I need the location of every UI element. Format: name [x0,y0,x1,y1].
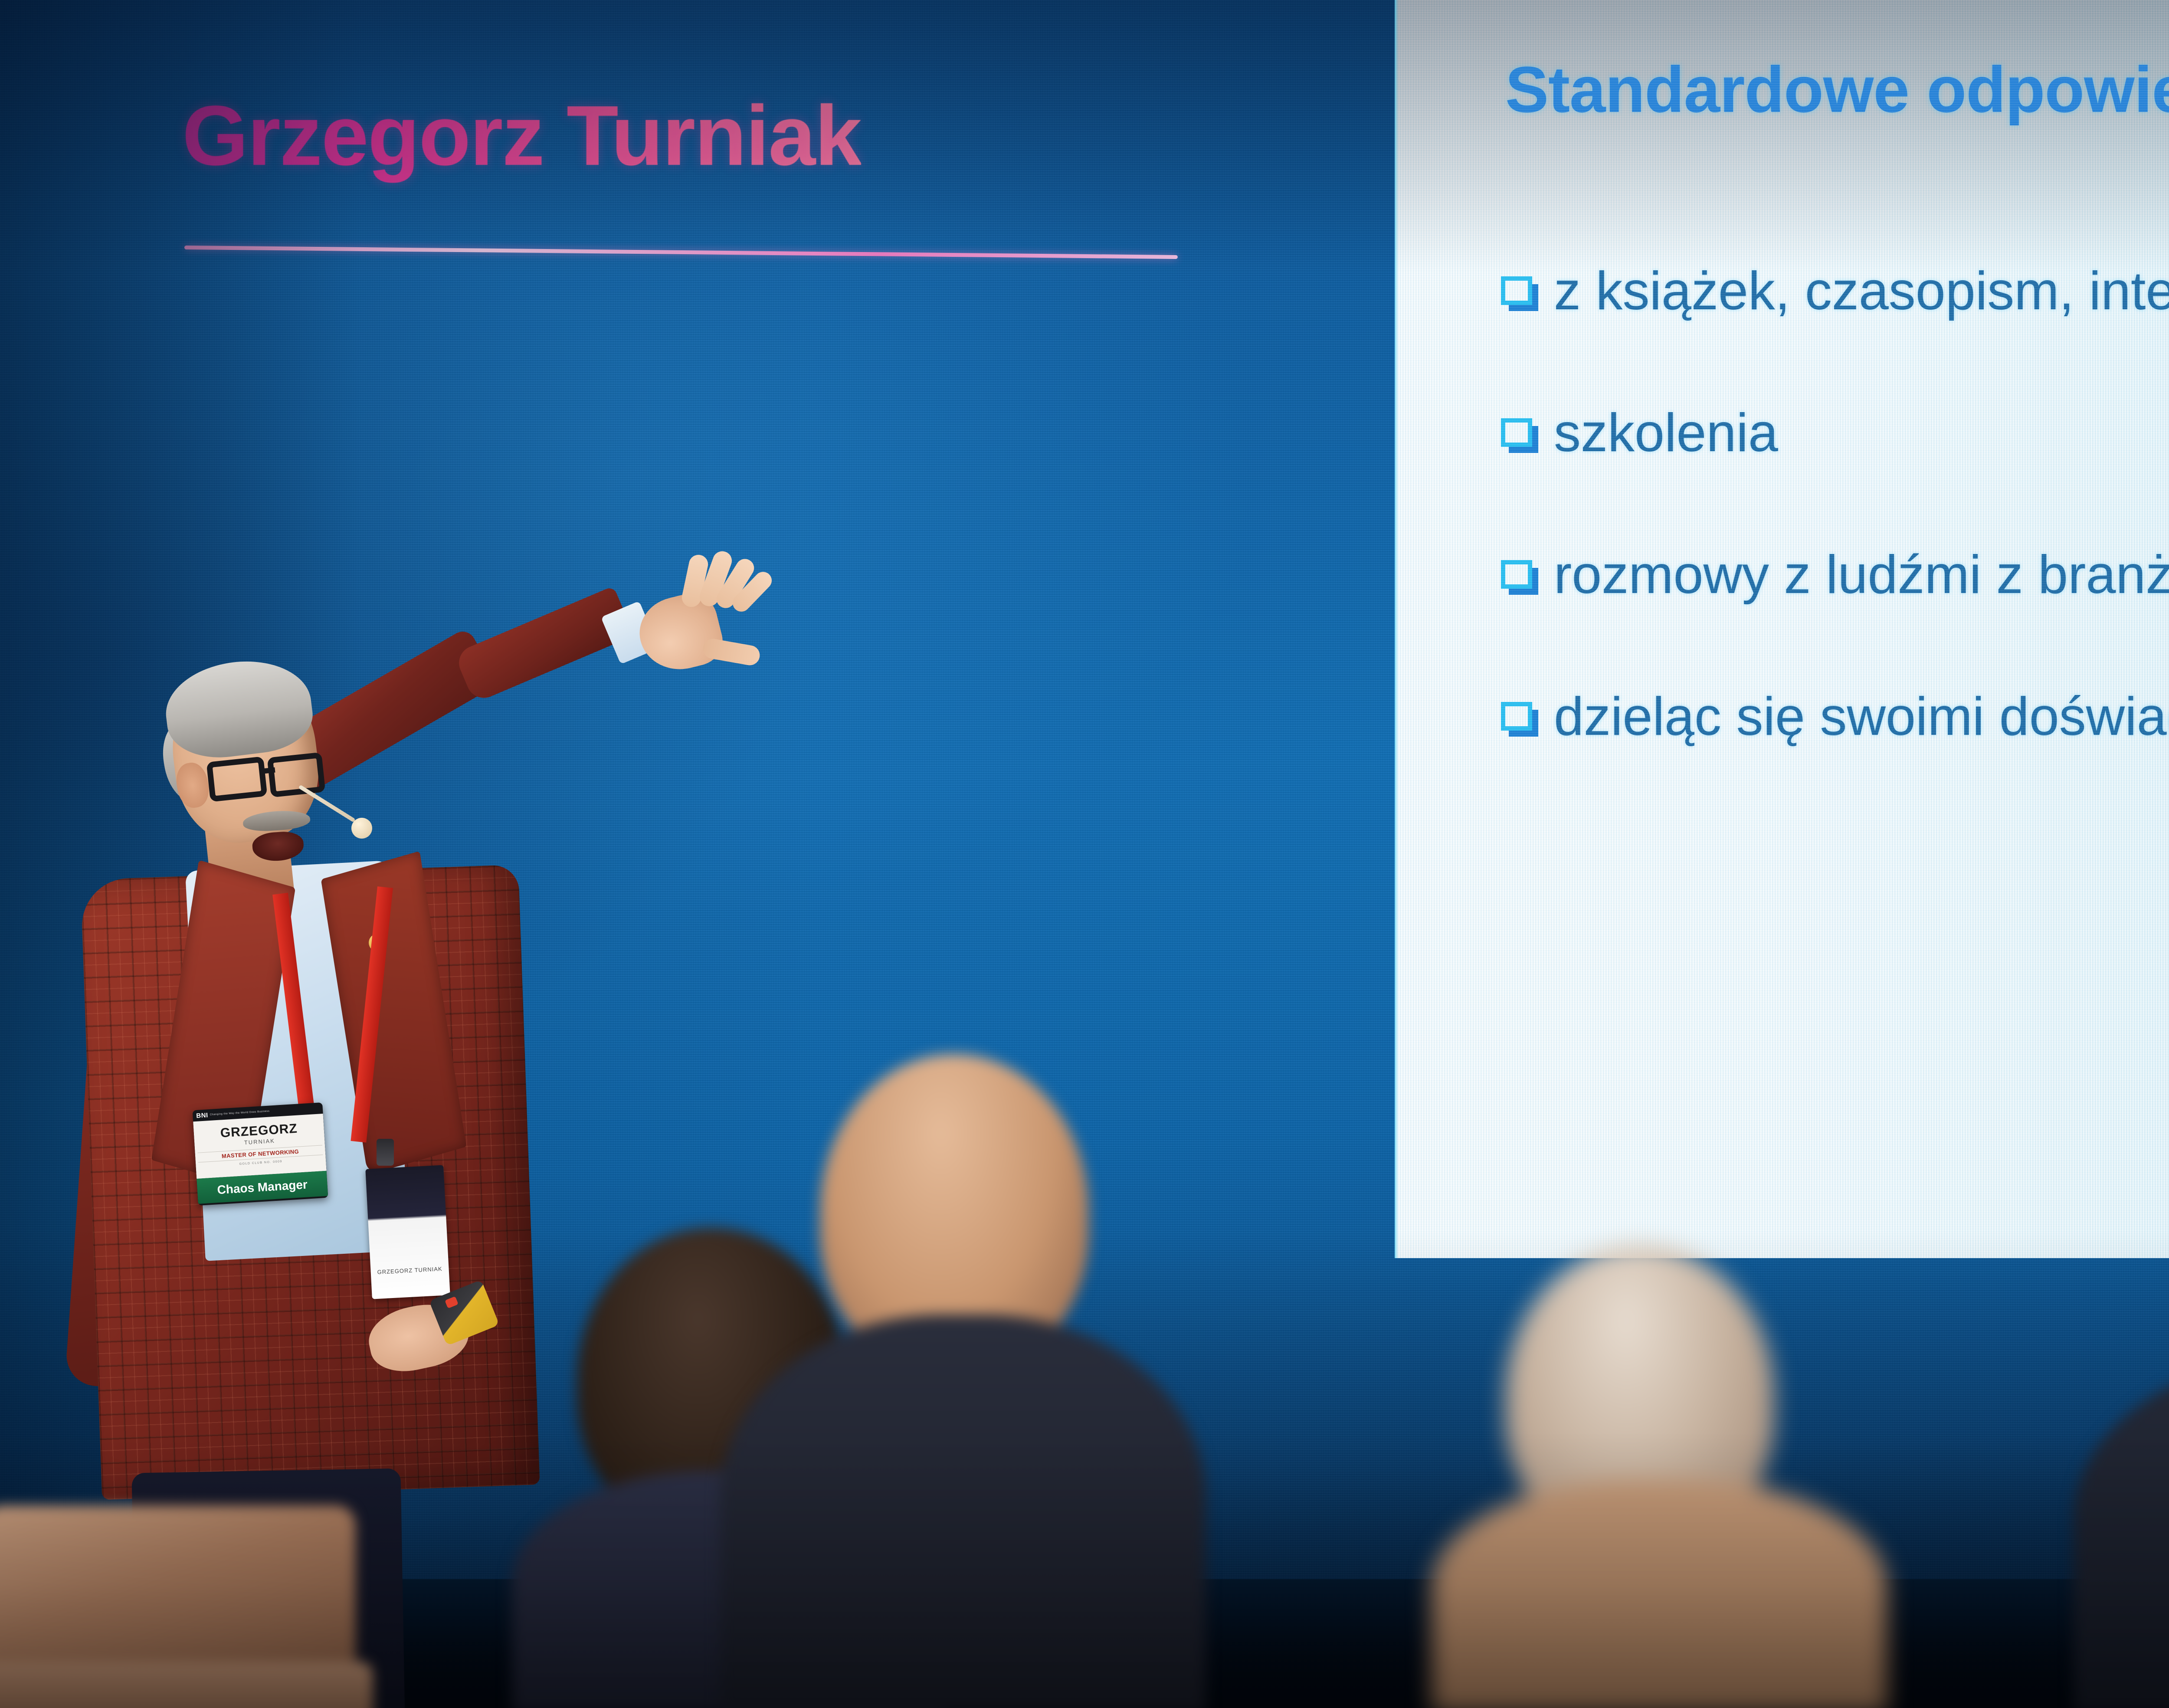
secondary-badge: GRZEGORZ TURNIAK [365,1165,450,1299]
secondary-badge-name: GRZEGORZ TURNIAK [370,1265,449,1275]
list-item: z książek, czasopism, internetu [1501,260,2169,402]
speaker-name-underline [184,246,1178,259]
name-badge: BNI Changing the Way the World Does Busi… [193,1102,328,1206]
square-bullet-icon [1501,560,1532,589]
audience-member-2 [720,1054,1206,1708]
eyeglasses-icon [206,756,268,802]
list-item: dzieląc się swoimi doświadczen [1501,686,2169,828]
speaker-name-heading: Grzegorz Turniak [182,87,861,184]
audience-shoulders [720,1315,1206,1708]
square-bullet-icon [1501,276,1532,305]
lanyard-clip [377,1139,394,1166]
badge-org-label: BNI [196,1111,208,1120]
slide-content-panel: Standardowe odpowiedzi z książek, czasop… [1395,0,2169,1258]
list-item: rozmowy z ludźmi z branży spo [1501,544,2169,686]
bullet-label: rozmowy z ludźmi z branży spo [1554,544,2169,606]
audience-shoulders [1432,1479,1887,1708]
audience-shoulders [2074,1354,2169,1708]
badge-body: GRZEGORZ TURNIAK MASTER OF NETWORKING GO… [193,1114,326,1179]
bullet-label: z książek, czasopism, internetu [1554,260,2169,322]
badge-tagline: Changing the Way the World Does Business [210,1110,269,1116]
chair-seat [0,1662,373,1708]
microphone-windscreen [351,818,372,839]
slide-bullet-list: z książek, czasopism, internetu szkoleni… [1501,260,2169,828]
square-bullet-icon [1501,702,1532,731]
panel-edge-glow [1395,0,1398,1258]
chair-backrest [0,1505,356,1679]
conference-stage: Grzegorz Turniak Standardowe odpowiedzi … [0,0,2169,1708]
list-item: szkolenia [1501,402,2169,544]
audience-member-4 [2074,1085,2169,1708]
eyeglasses-icon [267,752,326,798]
badge-title-label: Chaos Manager [217,1178,308,1197]
armchair [0,1505,373,1708]
bullet-label: szkolenia [1554,402,1778,464]
audience-member-3 [1432,1245,1887,1708]
square-bullet-icon [1501,418,1532,447]
slide-title: Standardowe odpowiedzi [1505,52,2169,127]
bullet-label: dzieląc się swoimi doświadczen [1554,686,2169,747]
